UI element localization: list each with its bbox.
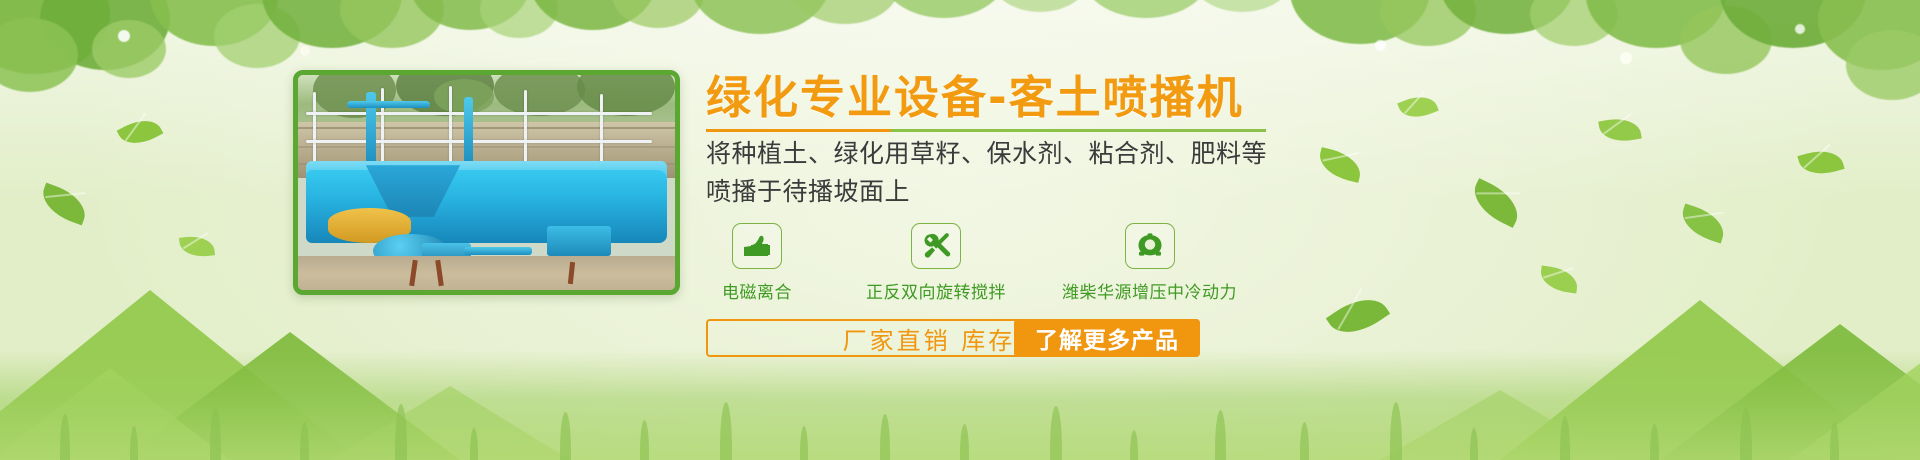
- floating-leaf-icon: [179, 234, 215, 258]
- grass-foreground: [0, 350, 1920, 460]
- feature-label: 正反双向旋转搅拌: [866, 278, 1006, 303]
- product-photo-image: [298, 75, 675, 290]
- engine-gear-icon: [1125, 223, 1175, 269]
- feature-item-bidirectional-mixing[interactable]: 正反双向旋转搅拌: [866, 223, 1006, 303]
- floating-leaf-icon: [117, 112, 164, 152]
- feature-label: 电磁离合: [722, 278, 792, 303]
- feature-list: 电磁离合 正反双向旋转搅拌: [706, 223, 1706, 303]
- banner-copy: 绿化专业设备-客土喷播机 将种植土、绿化用草籽、保水剂、粘合剂、肥料等 喷播于待…: [706, 74, 1706, 357]
- floating-leaf-icon: [1797, 145, 1844, 181]
- title-divider: [706, 129, 1266, 132]
- promo-banner: 绿化专业设备-客土喷播机 将种植土、绿化用草籽、保水剂、粘合剂、肥料等 喷播于待…: [0, 0, 1920, 460]
- subtitle-line-2: 喷播于待播坡面上: [706, 177, 1706, 208]
- thumbs-up-icon: [732, 223, 782, 269]
- subtitle-line-1: 将种植土、绿化用草籽、保水剂、粘合剂、肥料等: [706, 139, 1706, 170]
- product-photo[interactable]: [293, 70, 680, 295]
- feature-label: 潍柴华源增压中冷动力: [1062, 278, 1237, 303]
- learn-more-button[interactable]: 了解更多产品: [1014, 319, 1200, 357]
- feature-item-electromagnetic-clutch[interactable]: 电磁离合: [722, 223, 792, 303]
- page-title: 绿化专业设备-客土喷播机: [706, 74, 1706, 121]
- feature-item-weichai-engine[interactable]: 潍柴华源增压中冷动力: [1062, 223, 1237, 303]
- floating-leaf-icon: [37, 183, 92, 226]
- cta-bar: 厂家直销 库存充足 了解更多产品: [706, 319, 1200, 357]
- wrench-screwdriver-icon: [911, 223, 961, 269]
